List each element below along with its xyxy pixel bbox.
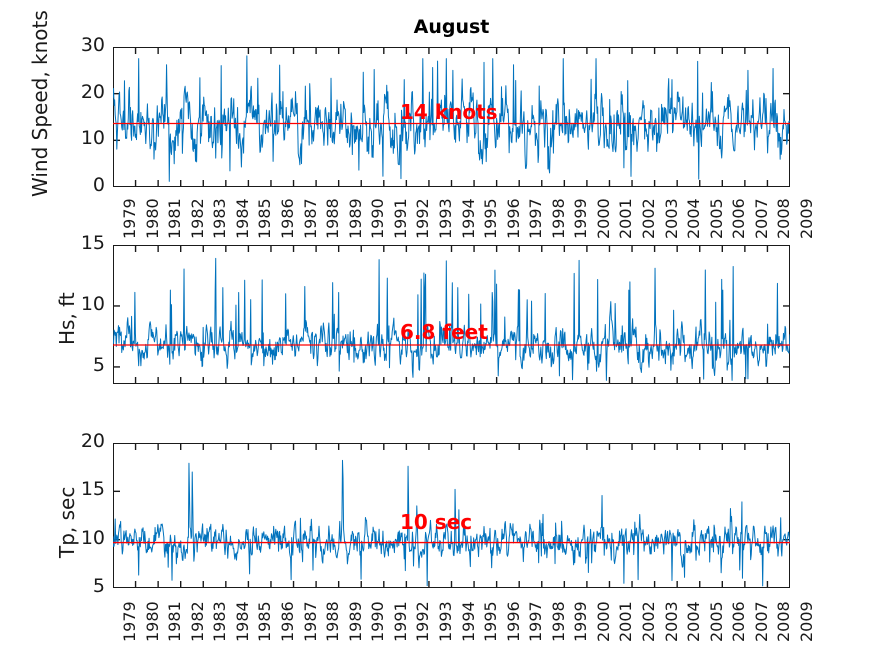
xtick-label-year: 2007 xyxy=(752,198,771,239)
xtick-label-year: 1985 xyxy=(255,601,274,642)
ytick-label: 10 xyxy=(45,127,105,149)
xtick-label-year: 1989 xyxy=(346,601,365,642)
xtick-label-year: 1995 xyxy=(481,198,500,239)
xtick-label-year: 1979 xyxy=(120,601,139,642)
xtick-label-year: 2000 xyxy=(594,601,613,642)
xtick-label-year: 1981 xyxy=(165,601,184,642)
mean-annotation-wind-speed: 14 knots xyxy=(400,100,498,124)
xtick-label-year: 1988 xyxy=(323,601,342,642)
panel-wave-height xyxy=(113,245,790,384)
xtick-label-year: 1981 xyxy=(165,198,184,239)
xtick-label-year: 2004 xyxy=(684,601,703,642)
xtick-label-year: 1982 xyxy=(188,198,207,239)
xtick-label-year: 1996 xyxy=(504,198,523,239)
xtick-label-year: 1982 xyxy=(188,601,207,642)
xtick-label-year: 2006 xyxy=(729,601,748,642)
xtick-label-year: 1990 xyxy=(368,198,387,239)
xtick-label-year: 1999 xyxy=(571,198,590,239)
ytick-label: 30 xyxy=(45,34,105,56)
xtick-label-year: 1997 xyxy=(526,601,545,642)
figure-canvas: August Wind Speed, knots 14 knots Hs, ft… xyxy=(0,0,875,656)
ytick-label: 10 xyxy=(45,527,105,549)
xtick-label-year: 1983 xyxy=(210,601,229,642)
xtick-label-year: 1993 xyxy=(436,601,455,642)
xtick-label-year: 1983 xyxy=(210,198,229,239)
ytick-label: 15 xyxy=(45,478,105,500)
ytick-label: 20 xyxy=(45,430,105,452)
xtick-label-year: 1984 xyxy=(233,198,252,239)
ytick-label: 0 xyxy=(45,174,105,196)
plot-area-wave-height xyxy=(113,245,790,384)
page-title: August xyxy=(113,16,790,38)
ytick-label: 5 xyxy=(45,354,105,376)
xtick-label-year: 2007 xyxy=(752,601,771,642)
xtick-label-year: 2008 xyxy=(774,601,793,642)
mean-annotation-peak-period: 10 sec xyxy=(400,510,472,534)
xtick-label-year: 1993 xyxy=(436,198,455,239)
xtick-label-year: 1989 xyxy=(346,198,365,239)
xtick-label-year: 1979 xyxy=(120,198,139,239)
xtick-label-year: 2002 xyxy=(639,198,658,239)
ytick-label: 15 xyxy=(45,232,105,254)
xtick-label-year: 2003 xyxy=(662,601,681,642)
xtick-label-year: 1991 xyxy=(391,198,410,239)
xtick-label-year: 1986 xyxy=(278,198,297,239)
xtick-label-year: 1992 xyxy=(413,198,432,239)
xtick-label-year: 1980 xyxy=(143,198,162,239)
xtick-label-year: 2002 xyxy=(639,601,658,642)
xtick-label-year: 1995 xyxy=(481,601,500,642)
xtick-label-year: 2005 xyxy=(707,198,726,239)
xtick-label-year: 2009 xyxy=(797,198,816,239)
xtick-label-year: 2008 xyxy=(774,198,793,239)
xtick-label-year: 1984 xyxy=(233,601,252,642)
xtick-label-year: 2001 xyxy=(616,601,635,642)
xtick-label-year: 1998 xyxy=(549,198,568,239)
xtick-label-year: 1987 xyxy=(301,601,320,642)
xtick-label-year: 1988 xyxy=(323,198,342,239)
xtick-label-year: 1980 xyxy=(143,601,162,642)
xtick-label-year: 1997 xyxy=(526,198,545,239)
xtick-label-year: 2000 xyxy=(594,198,613,239)
xtick-label-year: 2004 xyxy=(684,198,703,239)
xtick-label-year: 2005 xyxy=(707,601,726,642)
ytick-label: 10 xyxy=(45,293,105,315)
xtick-label-year: 1985 xyxy=(255,198,274,239)
ytick-label: 5 xyxy=(45,575,105,597)
xtick-label-year: 1990 xyxy=(368,601,387,642)
ytick-label: 20 xyxy=(45,81,105,103)
xtick-label-year: 1996 xyxy=(504,601,523,642)
xtick-label-year: 1986 xyxy=(278,601,297,642)
xtick-label-year: 1998 xyxy=(549,601,568,642)
xtick-label-year: 2006 xyxy=(729,198,748,239)
xtick-label-year: 1987 xyxy=(301,198,320,239)
xtick-label-year: 2009 xyxy=(797,601,816,642)
xtick-label-year: 1991 xyxy=(391,601,410,642)
xtick-label-year: 1994 xyxy=(459,198,478,239)
mean-annotation-wave-height: 6.8 feet xyxy=(400,320,488,344)
xtick-label-year: 1994 xyxy=(459,601,478,642)
xtick-label-year: 1992 xyxy=(413,601,432,642)
xtick-label-year: 2003 xyxy=(662,198,681,239)
xtick-label-year: 1999 xyxy=(571,601,590,642)
xtick-label-year: 2001 xyxy=(616,198,635,239)
